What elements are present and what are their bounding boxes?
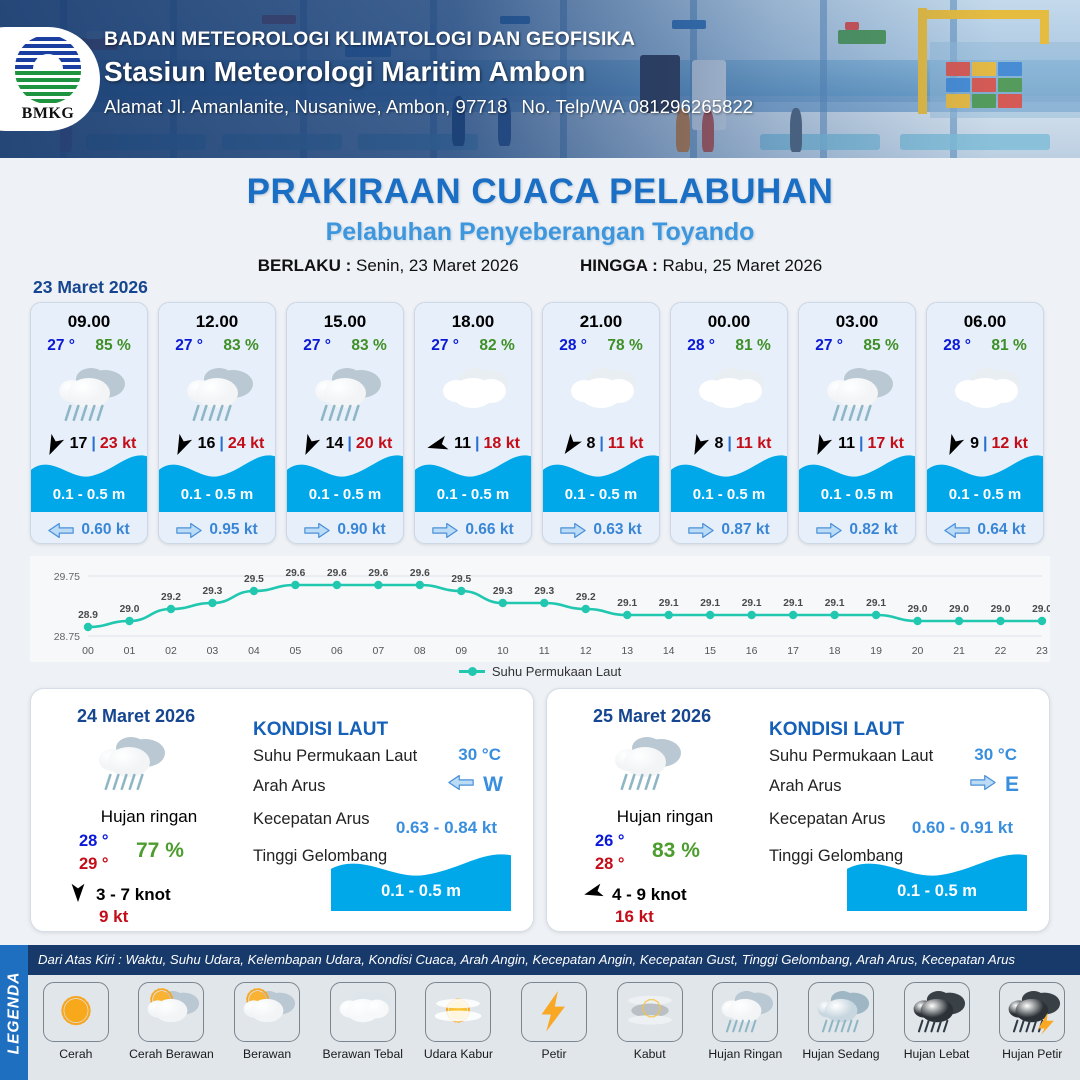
current-direction-arrow-icon — [448, 774, 474, 796]
weather-icon-cloudy — [927, 357, 1043, 429]
value-current-speed: 0.60 - 0.91 kt — [912, 818, 1013, 838]
sea-conditions-title: KONDISI LAUT — [253, 719, 388, 741]
card-temperature: 28 ° — [943, 337, 971, 355]
value-current-direction: E — [970, 773, 1019, 797]
legend-icon-clouds — [330, 982, 396, 1042]
address-line: Alamat Jl. Amanlanite, Nusaniwe, Ambon, … — [104, 96, 753, 118]
value-sst: 30 °C — [458, 745, 501, 765]
card-humidity: 83 % — [351, 337, 386, 355]
chart-legend-label: Suhu Permukaan Laut — [492, 664, 621, 679]
daily-temp-min: 26 ° — [595, 832, 625, 851]
until-label: HINGGA : — [580, 256, 658, 275]
value-sst: 30 °C — [974, 745, 1017, 765]
page-title: PRAKIRAAN CUACA PELABUHAN — [0, 172, 1080, 212]
daily-condition: Hujan ringan — [49, 807, 249, 827]
wave-height: 0.1 - 0.5 m — [799, 486, 915, 503]
daily-condition: Hujan ringan — [565, 807, 765, 827]
value-current-speed: 0.63 - 0.84 kt — [396, 818, 497, 838]
wave-height: 0.1 - 0.5 m — [159, 486, 275, 503]
card-temperature: 28 ° — [687, 337, 715, 355]
legend-item: Cerah — [28, 975, 124, 1080]
hourly-card: 18.0027 °82 %11|18 kt0.1 - 0.5 m0.66 kt — [414, 302, 532, 544]
svg-text:29.0: 29.0 — [991, 604, 1011, 615]
current-direction-label: W — [483, 773, 503, 797]
legend-tab: LEGENDA — [0, 945, 28, 1080]
sea-conditions-title: KONDISI LAUT — [769, 719, 904, 741]
daily-forecast-card: 24 Maret 2026Hujan ringan28 °29 °77 %3 -… — [30, 688, 534, 932]
wave-band: 0.1 - 0.5 m — [799, 450, 915, 512]
svg-text:03: 03 — [207, 645, 219, 657]
svg-text:29.6: 29.6 — [327, 568, 347, 579]
hourly-date-label: 23 Maret 2026 — [33, 277, 148, 298]
weather-icon-rain-light — [31, 357, 147, 429]
legend-icon-rain-moderate — [808, 982, 874, 1042]
card-time: 06.00 — [927, 312, 1043, 332]
chart-legend-marker — [459, 670, 485, 673]
svg-text:29.0: 29.0 — [120, 604, 140, 615]
svg-text:22: 22 — [995, 645, 1007, 657]
svg-text:23: 23 — [1036, 645, 1048, 657]
current-row: 0.64 kt — [927, 521, 1043, 539]
wave-band: 0.1 - 0.5 m — [543, 450, 659, 512]
legend-item-label: Udara Kabur — [424, 1047, 493, 1061]
svg-text:29.6: 29.6 — [285, 568, 305, 579]
legend-icon-fog — [617, 982, 683, 1042]
daily-wind-speed: 4 - 9 knot — [612, 885, 687, 905]
svg-text:29.1: 29.1 — [825, 598, 845, 609]
hourly-card: 09.0027 °85 %17|23 kt0.1 - 0.5 m0.60 kt — [30, 302, 148, 544]
page-header: BMKG BADAN METEOROLOGI KLIMATOLOGI DAN G… — [0, 0, 1080, 158]
wave-height: 0.1 - 0.5 m — [927, 486, 1043, 503]
legend-item-label: Cerah Berawan — [129, 1047, 214, 1061]
legend-item: Kabut — [602, 975, 698, 1080]
card-humidity: 83 % — [223, 337, 258, 355]
legend-tab-label: LEGENDA — [5, 971, 23, 1054]
daily-forecast-card: 25 Maret 2026Hujan ringan26 °28 °83 %4 -… — [546, 688, 1050, 932]
wave-band: 0.1 - 0.5 m — [159, 450, 275, 512]
card-humidity: 81 % — [735, 337, 770, 355]
card-temperature: 27 ° — [815, 337, 843, 355]
svg-text:29.1: 29.1 — [866, 598, 886, 609]
daily-wind-row: 4 - 9 knot — [583, 881, 687, 908]
legend-item: Petir — [506, 975, 602, 1080]
wave-height: 0.1 - 0.5 m — [543, 486, 659, 503]
wave-band: 0.1 - 0.5 m — [927, 450, 1043, 512]
current-direction-arrow-icon — [176, 522, 202, 539]
wave-height: 0.1 - 0.5 m — [31, 486, 147, 503]
current-direction-arrow-icon — [304, 522, 330, 539]
hourly-card: 03.0027 °85 %11|17 kt0.1 - 0.5 m0.82 kt — [798, 302, 916, 544]
svg-text:29.0: 29.0 — [1032, 604, 1050, 615]
wave-band: 0.1 - 0.5 m — [31, 450, 147, 512]
svg-text:29.1: 29.1 — [742, 598, 762, 609]
wave-height: 0.1 - 0.5 m — [287, 486, 403, 503]
valid-value: Senin, 23 Maret 2026 — [356, 256, 519, 275]
legend-items: CerahCerah BerawanBerawanBerawan TebalUd… — [28, 975, 1080, 1080]
svg-text:29.75: 29.75 — [54, 571, 80, 583]
current-row: 0.95 kt — [159, 521, 275, 539]
svg-text:15: 15 — [704, 645, 716, 657]
svg-text:29.3: 29.3 — [534, 586, 554, 597]
legend-item: Berawan — [219, 975, 315, 1080]
current-row: 0.63 kt — [543, 521, 659, 539]
daily-wind-row: 3 - 7 knot — [67, 881, 171, 908]
label-current-direction: Arah Arus — [253, 777, 325, 796]
svg-text:29.1: 29.1 — [783, 598, 803, 609]
wave-band: 0.1 - 0.5 m — [671, 450, 787, 512]
weather-icon-rain-light — [603, 731, 687, 798]
legend-item-label: Petir — [541, 1047, 566, 1061]
legend-item-label: Kabut — [634, 1047, 666, 1061]
svg-text:19: 19 — [870, 645, 882, 657]
legend-item: Hujan Lebat — [889, 975, 985, 1080]
card-time: 15.00 — [287, 312, 403, 332]
svg-text:29.2: 29.2 — [576, 592, 596, 603]
svg-text:08: 08 — [414, 645, 426, 657]
legend-icon-haze-sun — [425, 982, 491, 1042]
svg-text:29.3: 29.3 — [493, 586, 513, 597]
current-direction-arrow-icon — [944, 522, 970, 539]
daily-temp-max: 29 ° — [79, 855, 109, 874]
svg-text:29.6: 29.6 — [410, 568, 430, 579]
svg-text:06: 06 — [331, 645, 343, 657]
svg-text:02: 02 — [165, 645, 177, 657]
card-humidity: 85 % — [863, 337, 898, 355]
daily-humidity: 77 % — [136, 839, 184, 863]
legend-icon-bolt — [521, 982, 587, 1042]
svg-text:29.1: 29.1 — [700, 598, 720, 609]
daily-wave-band: 0.1 - 0.5 m — [331, 849, 511, 911]
svg-text:00: 00 — [82, 645, 94, 657]
wave-band: 0.1 - 0.5 m — [287, 450, 403, 512]
legend-item: Berawan Tebal — [315, 975, 411, 1080]
hourly-forecast-row: 09.0027 °85 %17|23 kt0.1 - 0.5 m0.60 kt1… — [30, 302, 1050, 544]
current-direction-arrow-icon — [560, 522, 586, 539]
header-text-block: BADAN METEOROLOGI KLIMATOLOGI DAN GEOFIS… — [104, 28, 753, 118]
svg-text:13: 13 — [621, 645, 633, 657]
card-temperature: 27 ° — [303, 337, 331, 355]
daily-date: 25 Maret 2026 — [593, 706, 711, 727]
daily-wind-speed: 3 - 7 knot — [96, 885, 171, 905]
hourly-card: 21.0028 °78 %8|11 kt0.1 - 0.5 m0.63 kt — [542, 302, 660, 544]
weather-icon-rain-light — [87, 731, 171, 798]
legend-item: Hujan Ringan — [697, 975, 793, 1080]
daily-temp-max: 28 ° — [595, 855, 625, 874]
card-time: 12.00 — [159, 312, 275, 332]
daily-temp-min: 28 ° — [79, 832, 109, 851]
until-value: Rabu, 25 Maret 2026 — [663, 256, 823, 275]
bmkg-logo: BMKG — [0, 27, 100, 131]
daily-gust: 16 kt — [615, 907, 654, 927]
validity-row: BERLAKU : Senin, 23 Maret 2026 HINGGA : … — [0, 256, 1080, 276]
current-speed: 0.95 kt — [209, 521, 257, 539]
contact-text: No. Telp/WA 081296265822 — [522, 96, 754, 117]
valid-label: BERLAKU : — [258, 256, 352, 275]
svg-text:28.9: 28.9 — [78, 610, 98, 621]
svg-text:29.0: 29.0 — [949, 604, 969, 615]
current-direction-arrow-icon — [688, 522, 714, 539]
hourly-card: 15.0027 °83 %14|20 kt0.1 - 0.5 m0.90 kt — [286, 302, 404, 544]
daily-humidity: 83 % — [652, 839, 700, 863]
legend-item-label: Berawan — [243, 1047, 291, 1061]
label-sst: Suhu Permukaan Laut — [253, 747, 417, 766]
card-humidity: 81 % — [991, 337, 1026, 355]
card-time: 18.00 — [415, 312, 531, 332]
legend-item-label: Berawan Tebal — [323, 1047, 403, 1061]
current-direction-label: E — [1005, 773, 1019, 797]
svg-text:29.0: 29.0 — [908, 604, 928, 615]
wave-height: 0.1 - 0.5 m — [671, 486, 787, 503]
hourly-card: 12.0027 °83 %16|24 kt0.1 - 0.5 m0.95 kt — [158, 302, 276, 544]
current-row: 0.90 kt — [287, 521, 403, 539]
svg-text:18: 18 — [829, 645, 841, 657]
svg-text:12: 12 — [580, 645, 592, 657]
card-temperature: 28 ° — [559, 337, 587, 355]
svg-text:29.5: 29.5 — [244, 574, 264, 585]
legend-icon-sun-cloud — [138, 982, 204, 1042]
title-block: PRAKIRAAN CUACA PELABUHAN Pelabuhan Peny… — [0, 172, 1080, 276]
hourly-card: 06.0028 °81 %9|12 kt0.1 - 0.5 m0.64 kt — [926, 302, 1044, 544]
daily-gust: 9 kt — [99, 907, 128, 927]
svg-text:09: 09 — [455, 645, 467, 657]
card-temperature: 27 ° — [431, 337, 459, 355]
legend-item-label: Cerah — [59, 1047, 92, 1061]
daily-wave-band: 0.1 - 0.5 m — [847, 849, 1027, 911]
current-row: 0.87 kt — [671, 521, 787, 539]
legend-icon-rain-heavy — [904, 982, 970, 1042]
svg-text:29.1: 29.1 — [659, 598, 679, 609]
hourly-card: 00.0028 °81 %8|11 kt0.1 - 0.5 m0.87 kt — [670, 302, 788, 544]
svg-text:05: 05 — [290, 645, 302, 657]
current-speed: 0.64 kt — [977, 521, 1025, 539]
value-current-direction: W — [448, 773, 503, 797]
legend-item: Hujan Sedang — [793, 975, 889, 1080]
card-humidity: 78 % — [607, 337, 642, 355]
sst-chart: 29.7528.7528.90029.00129.20229.30329.504… — [30, 556, 1050, 684]
card-time: 00.00 — [671, 312, 787, 332]
svg-text:20: 20 — [912, 645, 924, 657]
wind-direction-arrow-icon — [583, 881, 605, 908]
weather-icon-cloudy — [415, 357, 531, 429]
logo-text: BMKG — [22, 105, 75, 123]
weather-icon-rain-light — [287, 357, 403, 429]
current-direction-arrow-icon — [816, 522, 842, 539]
current-speed: 0.66 kt — [465, 521, 513, 539]
weather-icon-cloudy — [543, 357, 659, 429]
wave-height: 0.1 - 0.5 m — [415, 486, 531, 503]
page-subtitle: Pelabuhan Penyeberangan Toyando — [0, 218, 1080, 247]
station-name: Stasiun Meteorologi Maritim Ambon — [104, 56, 753, 88]
svg-text:21: 21 — [953, 645, 965, 657]
svg-text:10: 10 — [497, 645, 509, 657]
daily-date: 24 Maret 2026 — [77, 706, 195, 727]
wave-band: 0.1 - 0.5 m — [415, 450, 531, 512]
current-speed: 0.87 kt — [721, 521, 769, 539]
svg-text:04: 04 — [248, 645, 260, 657]
svg-text:29.5: 29.5 — [451, 574, 471, 585]
daily-forecast-row: 24 Maret 2026Hujan ringan28 °29 °77 %3 -… — [30, 688, 1050, 932]
svg-text:29.6: 29.6 — [368, 568, 388, 579]
svg-text:28.75: 28.75 — [54, 631, 80, 643]
card-humidity: 82 % — [479, 337, 514, 355]
card-time: 03.00 — [799, 312, 915, 332]
svg-text:14: 14 — [663, 645, 675, 657]
card-temperature: 27 ° — [47, 337, 75, 355]
legend-note: Dari Atas Kiri : Waktu, Suhu Udara, Kele… — [38, 952, 1015, 967]
legend-item-label: Hujan Petir — [1002, 1047, 1062, 1061]
label-sst: Suhu Permukaan Laut — [769, 747, 933, 766]
card-temperature: 27 ° — [175, 337, 203, 355]
legend-bar: LEGENDA Dari Atas Kiri : Waktu, Suhu Uda… — [0, 945, 1080, 1080]
current-row: 0.82 kt — [799, 521, 915, 539]
label-current-speed: Kecepatan Arus — [769, 810, 886, 829]
legend-icon-sun — [43, 982, 109, 1042]
agency-name: BADAN METEOROLOGI KLIMATOLOGI DAN GEOFIS… — [104, 28, 753, 51]
weather-icon-rain-light — [799, 357, 915, 429]
label-current-direction: Arah Arus — [769, 777, 841, 796]
weather-icon-cloudy — [671, 357, 787, 429]
svg-text:07: 07 — [373, 645, 385, 657]
legend-icon-rain-thunder — [999, 982, 1065, 1042]
current-direction-arrow-icon — [432, 522, 458, 539]
chart-legend: Suhu Permukaan Laut — [30, 664, 1050, 679]
svg-text:29.2: 29.2 — [161, 592, 181, 603]
svg-text:29.1: 29.1 — [617, 598, 637, 609]
legend-icon-rain-light — [712, 982, 778, 1042]
legend-icon-cloud-sun-small — [234, 982, 300, 1042]
current-row: 0.66 kt — [415, 521, 531, 539]
current-direction-arrow-icon — [970, 774, 996, 796]
legend-item: Cerah Berawan — [124, 975, 220, 1080]
current-speed: 0.90 kt — [337, 521, 385, 539]
label-current-speed: Kecepatan Arus — [253, 810, 370, 829]
legend-item: Udara Kabur — [411, 975, 507, 1080]
current-speed: 0.82 kt — [849, 521, 897, 539]
address-text: Alamat Jl. Amanlanite, Nusaniwe, Ambon, … — [104, 96, 508, 117]
current-direction-arrow-icon — [48, 522, 74, 539]
legend-item: Hujan Petir — [984, 975, 1080, 1080]
current-speed: 0.60 kt — [81, 521, 129, 539]
current-row: 0.60 kt — [31, 521, 147, 539]
svg-text:01: 01 — [124, 645, 136, 657]
legend-item-label: Hujan Ringan — [708, 1047, 782, 1061]
legend-item-label: Hujan Lebat — [904, 1047, 970, 1061]
svg-text:16: 16 — [746, 645, 758, 657]
current-speed: 0.63 kt — [593, 521, 641, 539]
wind-direction-arrow-icon — [67, 881, 89, 908]
card-time: 09.00 — [31, 312, 147, 332]
daily-wave-height: 0.1 - 0.5 m — [331, 882, 511, 901]
legend-item-label: Hujan Sedang — [802, 1047, 879, 1061]
card-humidity: 85 % — [95, 337, 130, 355]
svg-text:11: 11 — [539, 645, 550, 657]
svg-text:17: 17 — [787, 645, 799, 657]
daily-wave-height: 0.1 - 0.5 m — [847, 882, 1027, 901]
weather-icon-rain-light — [159, 357, 275, 429]
card-time: 21.00 — [543, 312, 659, 332]
svg-text:29.3: 29.3 — [203, 586, 223, 597]
